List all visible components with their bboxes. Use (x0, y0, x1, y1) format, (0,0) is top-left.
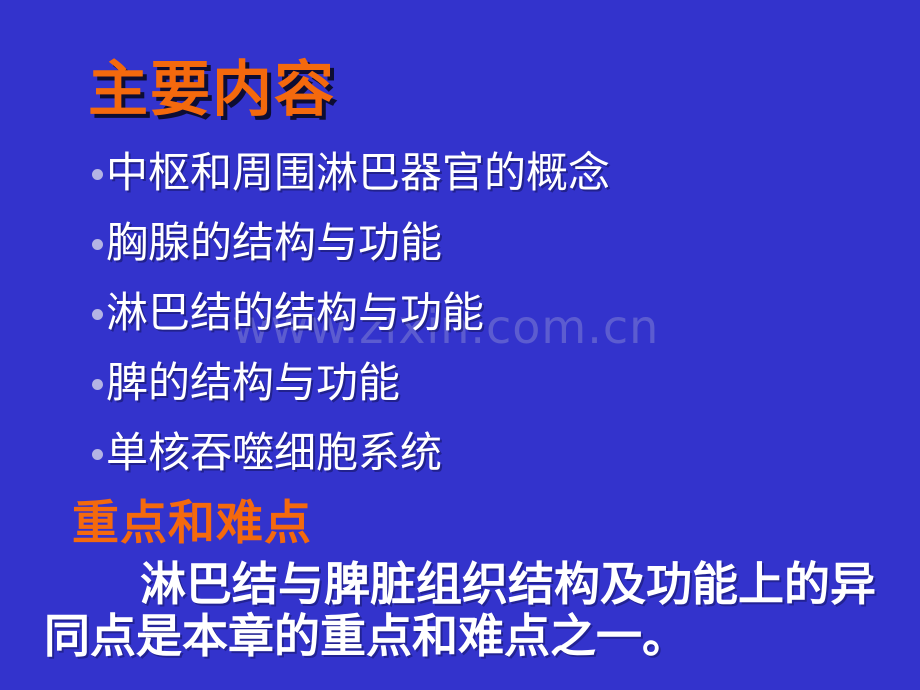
list-item: 脾的结构与功能 (92, 348, 610, 418)
outline-bullet-list: 中枢和周围淋巴器官的概念 胸腺的结构与功能 淋巴结的结构与功能 脾的结构与功能 … (92, 138, 610, 488)
list-item: 中枢和周围淋巴器官的概念 (92, 138, 610, 208)
list-item-label: 单核吞噬细胞系统 (106, 432, 442, 474)
list-item: 淋巴结的结构与功能 (92, 278, 610, 348)
bullet-dot-icon (92, 309, 103, 320)
section-heading-key-points: 重点和难点 (72, 500, 312, 547)
key-points-body-text: 淋巴结与脾脏组织结构及功能上的异同点是本章的重点和难点之一。 (44, 558, 896, 662)
page-title: 主要内容 (88, 60, 336, 120)
list-item: 胸腺的结构与功能 (92, 208, 610, 278)
bullet-dot-icon (92, 239, 103, 250)
list-item-label: 中枢和周围淋巴器官的概念 (106, 152, 610, 194)
presentation-slide: www.zixin.com.cn 主要内容 中枢和周围淋巴器官的概念 胸腺的结构… (0, 0, 920, 690)
bullet-dot-icon (92, 379, 103, 390)
list-item-label: 脾的结构与功能 (106, 362, 400, 404)
list-item-label: 胸腺的结构与功能 (106, 222, 442, 264)
list-item: 单核吞噬细胞系统 (92, 418, 610, 488)
bullet-dot-icon (92, 449, 103, 460)
bullet-dot-icon (92, 169, 103, 180)
list-item-label: 淋巴结的结构与功能 (106, 292, 484, 334)
